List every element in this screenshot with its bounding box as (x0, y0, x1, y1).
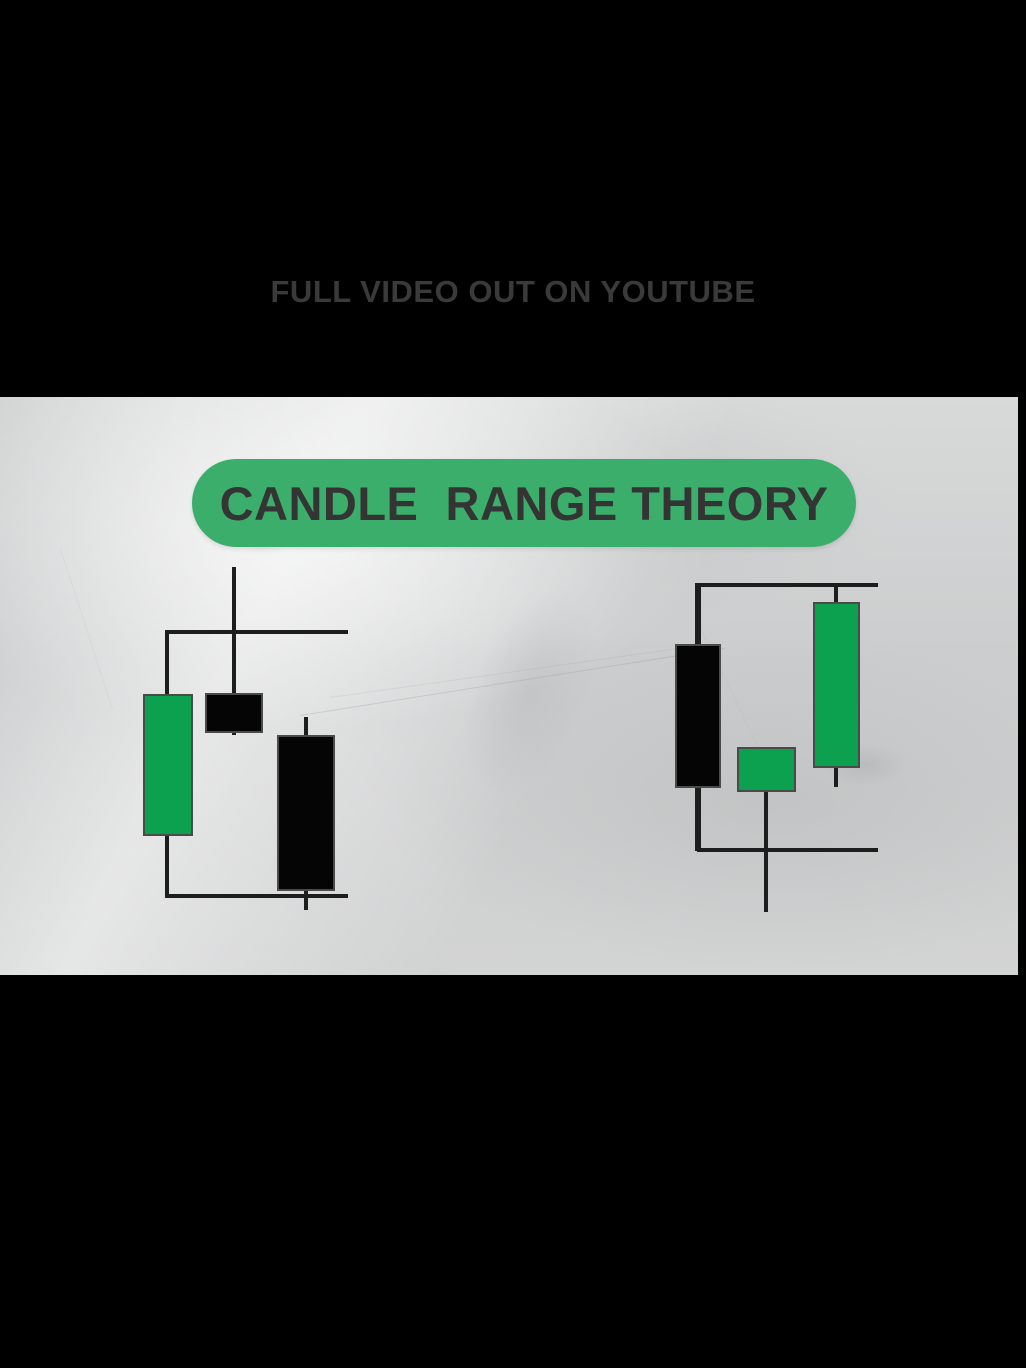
candle-wick-right-2 (764, 747, 768, 912)
candle-body-right-3 (813, 602, 860, 768)
texture-smudge (820, 742, 910, 788)
caption-text: FULL VIDEO OUT ON YOUTUBE (0, 272, 1026, 312)
range-low-line-right (697, 848, 878, 852)
candle-body-right-1 (675, 644, 721, 788)
range-high-line-left (165, 630, 348, 634)
title-banner-pill: CANDLE RANGE THEORY (192, 459, 856, 547)
range-left-edge-left (165, 630, 169, 898)
candle-wick-left-3 (304, 717, 308, 910)
chart-panel: CANDLE RANGE THEORY (0, 397, 1018, 975)
candle-wick-left-2 (232, 567, 236, 735)
title-banner-text: CANDLE RANGE THEORY (220, 476, 829, 531)
texture-streak (330, 647, 687, 698)
candle-body-left-1 (143, 694, 193, 836)
candle-wick-right-3 (834, 583, 838, 787)
texture-smudge (431, 563, 628, 821)
texture-streak (700, 627, 762, 753)
candle-body-right-2 (737, 747, 796, 792)
candle-body-left-3 (277, 735, 335, 891)
range-left-edge-right (697, 583, 701, 851)
range-high-line-right (697, 583, 878, 587)
texture-streak (300, 648, 725, 717)
candle-wick-right-1 (695, 583, 699, 851)
candle-wick-left-1 (165, 630, 169, 898)
texture-streak (60, 547, 113, 709)
range-low-line-left (165, 894, 348, 898)
candle-body-left-2 (205, 693, 263, 733)
video-frame-stage: FULL VIDEO OUT ON YOUTUBE CANDLE RANGE T… (0, 0, 1026, 1368)
